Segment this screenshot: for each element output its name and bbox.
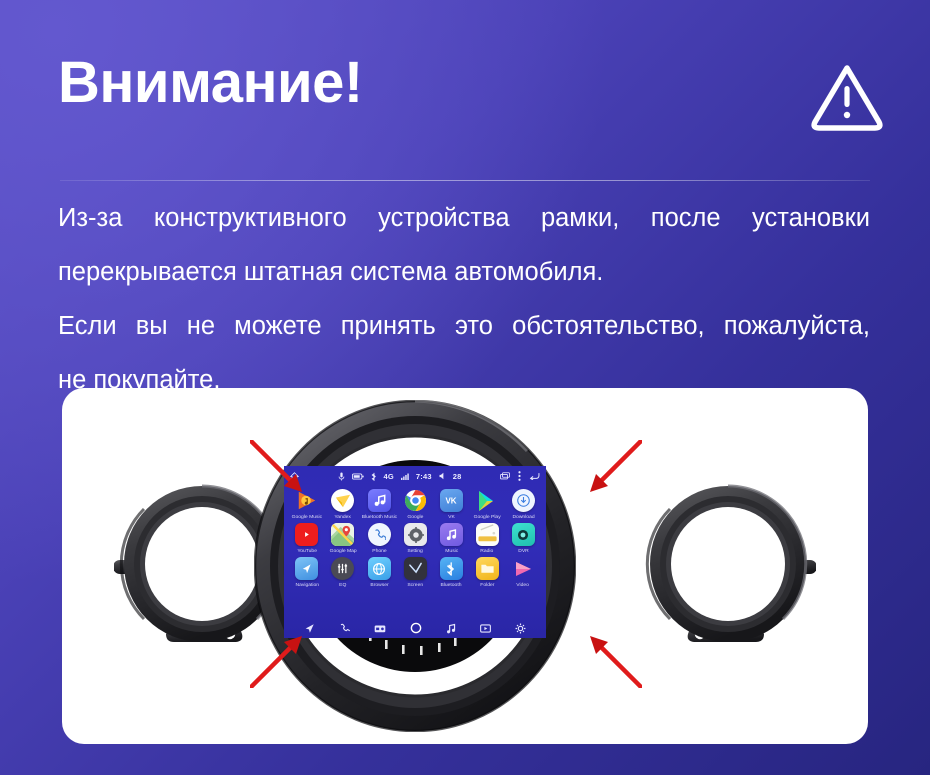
- app-navigation[interactable]: Navigation: [289, 557, 325, 589]
- status-bar: 4G 7:43 28: [284, 466, 546, 486]
- dock-radio-icon[interactable]: [374, 624, 386, 633]
- bluetooth-icon: [440, 557, 463, 580]
- app-label: Google Map: [329, 548, 356, 555]
- svg-text:VK: VK: [446, 497, 457, 506]
- app-label: Radio: [481, 548, 494, 555]
- app-label: Phone: [372, 548, 386, 555]
- dock-gear-icon[interactable]: [515, 623, 526, 634]
- right-gauge-pod: [640, 476, 816, 652]
- gear-icon: [404, 523, 427, 546]
- app-label: Browser: [370, 582, 388, 589]
- youtube-icon: [295, 523, 318, 546]
- notice-line-2: перекрывается штатная система автомобиля…: [58, 250, 873, 294]
- notice-line-1: Из-за конструктивного устройства рамки, …: [58, 196, 870, 240]
- app-youtube[interactable]: YouTube: [289, 523, 325, 555]
- app-screen[interactable]: Screen: [398, 557, 434, 589]
- product-image-card: 4G 7:43 28: [62, 388, 868, 744]
- equalizer-icon: [331, 557, 354, 580]
- more-vertical-icon[interactable]: [518, 471, 521, 481]
- app-label: Navigation: [295, 582, 319, 589]
- radio-icon: [476, 523, 499, 546]
- app-label: Google: [407, 514, 423, 521]
- dock-phone-icon[interactable]: [339, 623, 350, 634]
- screen-icon: [404, 557, 427, 580]
- dock-bar: [284, 618, 546, 638]
- dvr-camera-icon: [512, 523, 535, 546]
- marker-arrow-top-right: [580, 440, 642, 502]
- yandex-icon: [331, 489, 354, 512]
- app-google-map[interactable]: Google Map: [325, 523, 361, 555]
- app-phone[interactable]: Phone: [361, 523, 398, 555]
- head-unit-assembly: 4G 7:43 28: [62, 388, 868, 744]
- app-label: Yandex: [335, 514, 352, 521]
- app-vk[interactable]: VK VK: [433, 489, 469, 521]
- app-label: Video: [517, 582, 530, 589]
- marker-arrow-bottom-right: [580, 626, 642, 688]
- download-icon: [512, 489, 535, 512]
- app-bluetooth[interactable]: Bluetooth: [433, 557, 469, 589]
- app-label: DVR: [518, 548, 529, 555]
- app-label: Music: [445, 548, 458, 555]
- battery-icon: [352, 473, 364, 480]
- app-yandex[interactable]: Yandex: [325, 489, 361, 521]
- app-google[interactable]: Google: [398, 489, 434, 521]
- google-music-icon: [295, 489, 318, 512]
- notice-text: Из-за конструктивного устройства рамки, …: [58, 196, 873, 412]
- dock-navigation-arrow-icon[interactable]: [304, 623, 315, 634]
- video-play-icon: [512, 557, 535, 580]
- app-download[interactable]: Download: [505, 489, 541, 521]
- dock-video-icon[interactable]: [480, 624, 491, 633]
- app-video[interactable]: Video: [505, 557, 541, 589]
- back-arrow-icon[interactable]: [529, 472, 540, 480]
- signal-bars-icon: [401, 473, 409, 480]
- volume-level: 28: [453, 472, 462, 481]
- navigation-arrow-icon: [295, 557, 318, 580]
- dock-music-note-icon[interactable]: [446, 623, 456, 634]
- dock-home-circle-icon[interactable]: [410, 622, 422, 634]
- app-label: Google Music: [292, 514, 322, 521]
- android-head-unit-screen[interactable]: 4G 7:43 28: [284, 466, 546, 638]
- app-google-play[interactable]: Google Play: [469, 489, 505, 521]
- app-radio[interactable]: Radio: [469, 523, 505, 555]
- volume-icon: [439, 472, 446, 480]
- google-chrome-icon: [404, 489, 427, 512]
- google-play-icon: [476, 489, 499, 512]
- app-grid: Google Music Yandex Bluetooth Music: [284, 486, 546, 589]
- warning-triangle-icon: [808, 60, 886, 134]
- app-label: VK: [448, 514, 455, 521]
- app-label: Download: [512, 514, 534, 521]
- microphone-icon: [338, 472, 345, 481]
- header-divider: [60, 180, 870, 181]
- bluetooth-music-icon: [368, 489, 391, 512]
- app-label: Bluetooth: [441, 582, 462, 589]
- music-note-icon: [440, 523, 463, 546]
- app-browser[interactable]: Browser: [361, 557, 398, 589]
- header: Внимание!: [0, 0, 930, 182]
- promo-page: Внимание! Из-за конструктивного устройст…: [0, 0, 930, 775]
- folder-icon: [476, 557, 499, 580]
- google-maps-icon: [331, 523, 354, 546]
- app-setting[interactable]: Setting: [398, 523, 434, 555]
- app-label: EQ: [339, 582, 346, 589]
- vk-icon: VK: [440, 489, 463, 512]
- app-label: Folder: [480, 582, 494, 589]
- app-label: Google Play: [474, 514, 501, 521]
- app-bluetooth-music[interactable]: Bluetooth Music: [361, 489, 398, 521]
- page-title: Внимание!: [58, 54, 363, 112]
- notice-line-3: Если вы не можете принять это обстоятель…: [58, 304, 870, 348]
- app-label: Setting: [408, 548, 424, 555]
- app-folder[interactable]: Folder: [469, 557, 505, 589]
- app-eq[interactable]: EQ: [325, 557, 361, 589]
- globe-icon: [368, 557, 391, 580]
- recents-icon[interactable]: [500, 472, 510, 480]
- bluetooth-icon: [371, 472, 377, 481]
- network-label: 4G: [384, 472, 394, 481]
- app-label: YouTube: [297, 548, 317, 555]
- app-google-music[interactable]: Google Music: [289, 489, 325, 521]
- app-label: Screen: [408, 582, 424, 589]
- clock-label: 7:43: [416, 472, 432, 481]
- app-label: Bluetooth Music: [361, 514, 396, 521]
- app-dvr[interactable]: DVR: [505, 523, 541, 555]
- app-music[interactable]: Music: [433, 523, 469, 555]
- home-icon[interactable]: [290, 472, 299, 481]
- phone-icon: [368, 523, 391, 546]
